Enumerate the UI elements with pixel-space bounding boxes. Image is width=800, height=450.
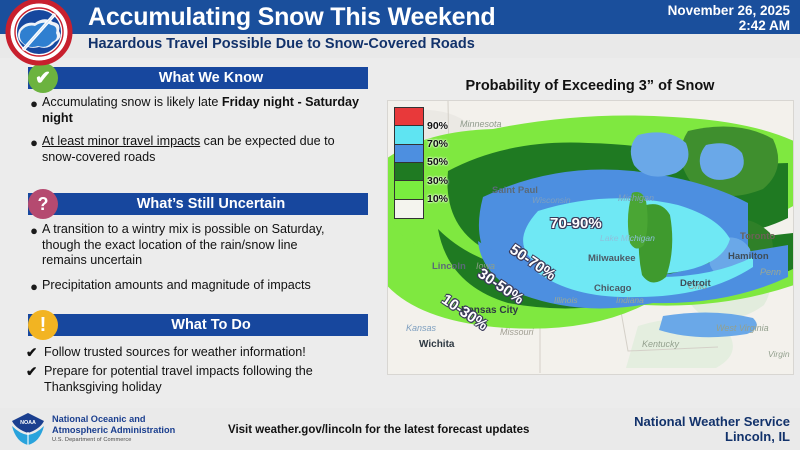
geo-label-illinois: Illinois xyxy=(554,295,578,305)
legend-swatch-50 xyxy=(395,145,423,163)
section-title-whats-still-uncertain: What’s Still Uncertain xyxy=(28,193,368,215)
list-item: ● Precipitation amounts and magnitude of… xyxy=(26,278,356,295)
list-item: ● Accumulating snow is likely late Frida… xyxy=(26,95,371,126)
legend-swatch-base xyxy=(395,200,423,218)
weather-graphic: Accumulating Snow This Weekend November … xyxy=(0,0,800,450)
legend-label-10: 10% xyxy=(427,193,448,205)
legend-label-50: 50% xyxy=(427,156,448,168)
svg-text:NOAA: NOAA xyxy=(20,420,36,426)
city-label-toronto: Toronto xyxy=(740,231,775,242)
bullet-marker: ● xyxy=(26,95,42,112)
noaa-agency-sub: U.S. Department of Commerce xyxy=(52,437,131,443)
bullet-part: Accumulating snow is likely late xyxy=(42,95,222,109)
section-header-what-to-do: What To Do xyxy=(28,314,368,336)
legend-label-30: 30% xyxy=(427,175,448,187)
bullet-text: Precipitation amounts and magnitude of i… xyxy=(42,278,356,294)
bullet-list-whats-still-uncertain: ● A transition to a wintry mix is possib… xyxy=(26,222,356,301)
bullet-text: Accumulating snow is likely late Friday … xyxy=(42,95,371,126)
check-circle-icon: ✔ xyxy=(28,63,58,93)
map-title: Probability of Exceeding 3” of Snow xyxy=(390,78,790,94)
geo-label-penn: Penn xyxy=(760,267,781,277)
legend-swatch-10 xyxy=(395,181,423,199)
city-label-saint-paul: Saint Paul xyxy=(492,185,538,196)
check-marker: ✔ xyxy=(26,345,44,361)
geo-label-virgin: Virgin xyxy=(768,349,790,359)
legend-swatch-90 xyxy=(395,108,423,126)
section-title-what-we-know: What We Know xyxy=(28,67,368,89)
legend-label-70: 70% xyxy=(427,138,448,150)
geo-label-michigan: Michigan xyxy=(618,193,654,203)
exclamation-glyph: ! xyxy=(40,315,47,335)
map-legend: 90% 70% 50% 30% 10% xyxy=(394,107,464,219)
check-marker: ✔ xyxy=(26,364,44,380)
exclamation-circle-icon: ! xyxy=(28,310,58,340)
legend-swatch-column xyxy=(394,107,424,219)
header-date: November 26, 2025 xyxy=(530,4,790,18)
geo-label-kansas: Kansas xyxy=(406,323,436,333)
probability-map[interactable]: Minnesota Wisconsin Michigan Iowa Illino… xyxy=(387,100,794,375)
bullet-list-what-we-know: ● Accumulating snow is likely late Frida… xyxy=(26,95,371,171)
list-item: ● A transition to a wintry mix is possib… xyxy=(26,222,356,269)
geo-label-lake-michigan: Lake Michigan xyxy=(600,233,655,243)
bullet-part-underline: At least minor travel impacts xyxy=(42,134,200,148)
question-circle-icon: ? xyxy=(28,189,58,219)
bullet-list-what-to-do: ✔ Follow trusted sources for weather inf… xyxy=(26,345,366,401)
legend-label-column: 90% 70% 50% 30% 10% xyxy=(427,107,467,219)
geo-label-kentucky: Kentucky xyxy=(642,339,679,349)
list-item: ✔ Follow trusted sources for weather inf… xyxy=(26,345,366,361)
check-glyph: ✔ xyxy=(35,69,51,88)
geo-label-missouri: Missouri xyxy=(500,327,534,337)
city-label-milwaukee: Milwaukee xyxy=(588,253,636,264)
footer-office: National Weather Service Lincoln, IL xyxy=(470,414,790,444)
noaa-logo: NOAA xyxy=(10,412,46,446)
city-label-lincoln: Lincoln xyxy=(432,261,466,272)
bullet-text: At least minor travel impacts can be exp… xyxy=(42,134,371,165)
question-glyph: ? xyxy=(38,195,49,213)
page-subtitle: Hazardous Travel Possible Due to Snow-Co… xyxy=(88,36,475,52)
footer-office-line1: National Weather Service xyxy=(470,414,790,429)
list-item: ✔ Prepare for potential travel impacts f… xyxy=(26,364,366,395)
contour-label-70-90: 70-90% xyxy=(550,215,602,232)
geo-label-indiana: Indiana xyxy=(616,295,644,305)
section-header-what-we-know: What We Know xyxy=(28,67,368,89)
page-title: Accumulating Snow This Weekend xyxy=(88,3,496,31)
bullet-text: A transition to a wintry mix is possible… xyxy=(42,222,342,269)
noaa-agency-name: National Oceanic and Atmospheric Adminis… xyxy=(52,414,175,435)
city-label-wichita: Wichita xyxy=(419,339,454,350)
geo-label-west-virginia: West Virginia xyxy=(716,323,769,333)
national-weather-service-logo xyxy=(5,0,73,66)
noaa-agency-line1: National Oceanic and xyxy=(52,414,175,425)
city-label-detroit: Detroit xyxy=(680,278,711,289)
bullet-marker: ● xyxy=(26,222,42,239)
legend-label-90: 90% xyxy=(427,120,448,132)
section-header-whats-still-uncertain: What’s Still Uncertain xyxy=(28,193,368,215)
legend-swatch-70 xyxy=(395,126,423,144)
bullet-marker: ● xyxy=(26,278,42,295)
legend-swatch-30 xyxy=(395,163,423,181)
city-label-hamilton: Hamilton xyxy=(728,251,769,262)
header-time: 2:42 AM xyxy=(530,19,790,33)
bullet-text: Prepare for potential travel impacts fol… xyxy=(44,364,354,395)
footer-office-line2: Lincoln, IL xyxy=(470,429,790,444)
list-item: ● At least minor travel impacts can be e… xyxy=(26,134,371,165)
geo-label-wisconsin: Wisconsin xyxy=(532,195,571,205)
noaa-agency-line2: Atmospheric Administration xyxy=(52,425,175,436)
section-title-what-to-do: What To Do xyxy=(28,314,368,336)
bullet-marker: ● xyxy=(26,134,42,151)
city-label-chicago: Chicago xyxy=(594,283,631,294)
bullet-text: Follow trusted sources for weather infor… xyxy=(44,345,359,361)
